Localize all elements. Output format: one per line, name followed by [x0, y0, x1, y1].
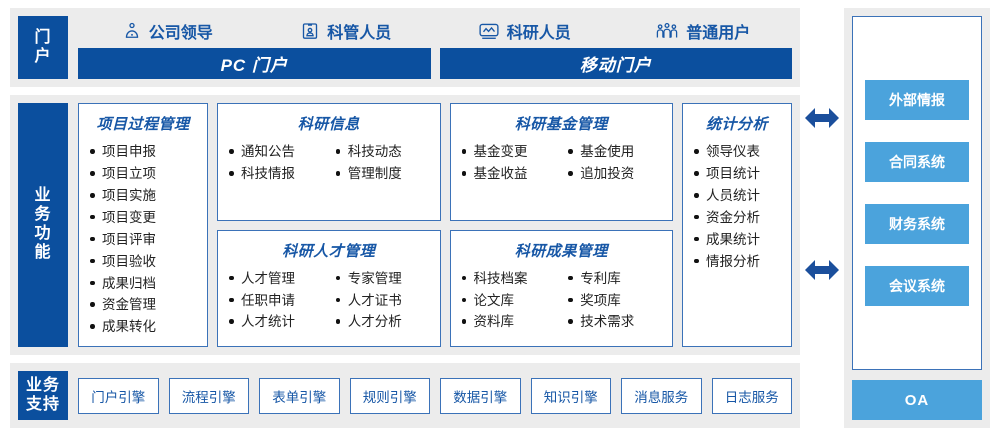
- portal-label-char-2: 户: [34, 48, 51, 67]
- list-item[interactable]: 基金变更: [461, 141, 556, 163]
- card-body: 领导仪表 项目统计 人员统计 资金分析 成果统计 情报分析: [683, 141, 791, 346]
- group-users-icon: [655, 21, 679, 41]
- list-item[interactable]: 追加投资: [567, 163, 662, 185]
- card-body: 人才管理 任职申请 人才统计 专家管理 人才证书 人才分析: [218, 268, 440, 346]
- item-list: 领导仪表 项目统计 人员统计 资金分析 成果统计 情报分析: [693, 141, 781, 272]
- card-title: 科研人才管理: [218, 231, 440, 268]
- card-title: 项目过程管理: [79, 104, 207, 141]
- list-item[interactable]: 人才证书: [335, 290, 430, 312]
- connector-column: [800, 0, 844, 436]
- card-project-process-management[interactable]: 项目过程管理 项目申报 项目立项 项目实施 项目变更 项目评审 项目验收 成果归…: [78, 103, 208, 347]
- role-label: 普通用户: [686, 19, 750, 43]
- item-list-col1: 科技档案 论文库 资料库: [461, 268, 556, 338]
- item-list: 项目申报 项目立项 项目实施 项目变更 项目评审 项目验收 成果归档 资金管理 …: [89, 141, 197, 338]
- external-system-contract[interactable]: 合同系统: [865, 142, 969, 182]
- card-title: 科研信息: [218, 104, 440, 141]
- role-label: 公司领导: [149, 19, 213, 43]
- engine-data[interactable]: 数据引擎: [440, 378, 521, 414]
- business-support-section: 业务 支持 门户引擎 流程引擎 表单引擎 规则引擎 数据引擎 知识引擎 消息服务…: [10, 363, 800, 428]
- business-support-section-label: 业务 支持: [18, 371, 68, 420]
- item-list-col2: 科技动态 管理制度: [335, 141, 430, 211]
- role-list: 公司领导 科管人员: [78, 14, 792, 48]
- engine-workflow[interactable]: 流程引擎: [169, 378, 250, 414]
- engine-portal[interactable]: 门户引擎: [78, 378, 159, 414]
- card-research-achievement-management[interactable]: 科研成果管理 科技档案 论文库 资料库 专利库 奖项库 技术需求: [450, 230, 674, 347]
- business-functions-section: 业 务 功 能 项目过程管理 项目申报 项目立项 项目实施 项目变更 项目评审: [10, 95, 800, 355]
- list-item[interactable]: 专利库: [567, 268, 662, 290]
- item-list-col1: 通知公告 科技情报: [228, 141, 323, 211]
- portal-section-label: 门 户: [18, 16, 68, 79]
- business-functions-section-label: 业 务 功 能: [18, 103, 68, 347]
- list-item[interactable]: 通知公告: [228, 141, 323, 163]
- card-research-talent-management[interactable]: 科研人才管理 人才管理 任职申请 人才统计 专家管理 人才证书 人才分析: [217, 230, 441, 347]
- list-item[interactable]: 项目变更: [89, 207, 197, 229]
- external-system-intelligence[interactable]: 外部情报: [865, 80, 969, 120]
- list-item[interactable]: 领导仪表: [693, 141, 781, 163]
- portal-label-char-1: 门: [34, 29, 51, 48]
- list-item[interactable]: 科技动态: [335, 141, 430, 163]
- external-system-finance[interactable]: 财务系统: [865, 204, 969, 244]
- double-arrow-icon-bottom: [804, 257, 840, 283]
- portal-bar-mobile[interactable]: 移动门户: [440, 48, 793, 79]
- list-item[interactable]: 资金分析: [693, 207, 781, 229]
- list-item[interactable]: 项目统计: [693, 163, 781, 185]
- middle-column-left: 科研信息 通知公告 科技情报 科技动态 管理制度: [217, 103, 441, 347]
- list-item[interactable]: 基金使用: [567, 141, 662, 163]
- list-item[interactable]: 人才分析: [335, 311, 430, 333]
- list-item[interactable]: 技术需求: [567, 311, 662, 333]
- list-item[interactable]: 人员统计: [693, 185, 781, 207]
- list-item[interactable]: 资金管理: [89, 294, 197, 316]
- list-item[interactable]: 项目实施: [89, 185, 197, 207]
- chart-monitor-icon: [478, 21, 500, 41]
- list-item[interactable]: 论文库: [461, 290, 556, 312]
- portal-bars: PC 门户 移动门户: [78, 48, 792, 79]
- card-title: 统计分析: [683, 104, 791, 141]
- role-label: 科研人员: [507, 19, 571, 43]
- list-item[interactable]: 基金收益: [461, 163, 556, 185]
- external-systems-box: 外部情报 合同系统 财务系统 会议系统: [852, 16, 982, 370]
- support-label-line-2: 支持: [26, 396, 60, 415]
- card-research-information[interactable]: 科研信息 通知公告 科技情报 科技动态 管理制度: [217, 103, 441, 220]
- role-general-user[interactable]: 普通用户: [614, 19, 793, 43]
- list-item[interactable]: 人才统计: [228, 311, 323, 333]
- list-item[interactable]: 成果转化: [89, 316, 197, 338]
- engine-rule[interactable]: 规则引擎: [350, 378, 431, 414]
- card-research-fund-management[interactable]: 科研基金管理 基金变更 基金收益 基金使用 追加投资: [450, 103, 674, 220]
- external-systems-column: 外部情报 合同系统 财务系统 会议系统 OA: [844, 0, 1000, 436]
- list-item[interactable]: 项目验收: [89, 251, 197, 273]
- middle-column-right: 科研基金管理 基金变更 基金收益 基金使用 追加投资: [450, 103, 674, 347]
- func-label-char-2: 务: [34, 206, 51, 225]
- list-item[interactable]: 成果统计: [693, 229, 781, 251]
- role-company-leader[interactable]: 公司领导: [78, 19, 257, 43]
- list-item[interactable]: 项目立项: [89, 163, 197, 185]
- list-item[interactable]: 专家管理: [335, 268, 430, 290]
- engine-knowledge[interactable]: 知识引擎: [531, 378, 612, 414]
- card-title: 科研基金管理: [451, 104, 673, 141]
- architecture-diagram: 门 户 公司领导: [0, 0, 1000, 436]
- list-item[interactable]: 成果归档: [89, 273, 197, 295]
- func-label-char-3: 功: [34, 225, 51, 244]
- func-label-char-1: 业: [34, 187, 51, 206]
- role-label: 科管人员: [327, 19, 391, 43]
- list-item[interactable]: 项目评审: [89, 229, 197, 251]
- list-item[interactable]: 资料库: [461, 311, 556, 333]
- list-item[interactable]: 奖项库: [567, 290, 662, 312]
- list-item[interactable]: 科技情报: [228, 163, 323, 185]
- func-label-char-4: 能: [34, 244, 51, 263]
- list-item[interactable]: 项目申报: [89, 141, 197, 163]
- card-title: 科研成果管理: [451, 231, 673, 268]
- portal-section: 门 户 公司领导: [10, 8, 800, 87]
- id-badge-icon: [300, 21, 320, 41]
- card-body: 基金变更 基金收益 基金使用 追加投资: [451, 141, 673, 219]
- item-list-col2: 基金使用 追加投资: [567, 141, 662, 211]
- card-body: 通知公告 科技情报 科技动态 管理制度: [218, 141, 440, 219]
- item-list-col2: 专利库 奖项库 技术需求: [567, 268, 662, 338]
- card-statistical-analysis[interactable]: 统计分析 领导仪表 项目统计 人员统计 资金分析 成果统计 情报分析: [682, 103, 792, 347]
- double-arrow-icon-top: [804, 105, 840, 131]
- card-body: 项目申报 项目立项 项目实施 项目变更 项目评审 项目验收 成果归档 资金管理 …: [79, 141, 207, 346]
- leader-icon: [122, 21, 142, 41]
- list-item[interactable]: 任职申请: [228, 290, 323, 312]
- engine-list: 门户引擎 流程引擎 表单引擎 规则引擎 数据引擎 知识引擎 消息服务 日志服务: [68, 363, 800, 428]
- engine-form[interactable]: 表单引擎: [259, 378, 340, 414]
- list-item[interactable]: 管理制度: [335, 163, 430, 185]
- list-item[interactable]: 情报分析: [693, 251, 781, 273]
- main-column: 门 户 公司领导: [0, 0, 800, 436]
- external-system-oa[interactable]: OA: [852, 380, 982, 420]
- portal-bar-pc[interactable]: PC 门户: [78, 48, 431, 79]
- external-system-meeting[interactable]: 会议系统: [865, 266, 969, 306]
- list-item[interactable]: 人才管理: [228, 268, 323, 290]
- list-item[interactable]: 科技档案: [461, 268, 556, 290]
- external-systems-panel: 外部情报 合同系统 财务系统 会议系统 OA: [844, 8, 990, 428]
- engine-log-service[interactable]: 日志服务: [712, 378, 793, 414]
- role-researcher[interactable]: 科研人员: [435, 19, 614, 43]
- support-label-line-1: 业务: [26, 377, 60, 396]
- item-list-col1: 人才管理 任职申请 人才统计: [228, 268, 323, 338]
- role-research-admin[interactable]: 科管人员: [257, 19, 436, 43]
- item-list-col1: 基金变更 基金收益: [461, 141, 556, 211]
- business-functions-content: 项目过程管理 项目申报 项目立项 项目实施 项目变更 项目评审 项目验收 成果归…: [68, 95, 800, 355]
- portal-content: 公司领导 科管人员: [68, 8, 800, 87]
- item-list-col2: 专家管理 人才证书 人才分析: [335, 268, 430, 338]
- card-body: 科技档案 论文库 资料库 专利库 奖项库 技术需求: [451, 268, 673, 346]
- engine-message-service[interactable]: 消息服务: [621, 378, 702, 414]
